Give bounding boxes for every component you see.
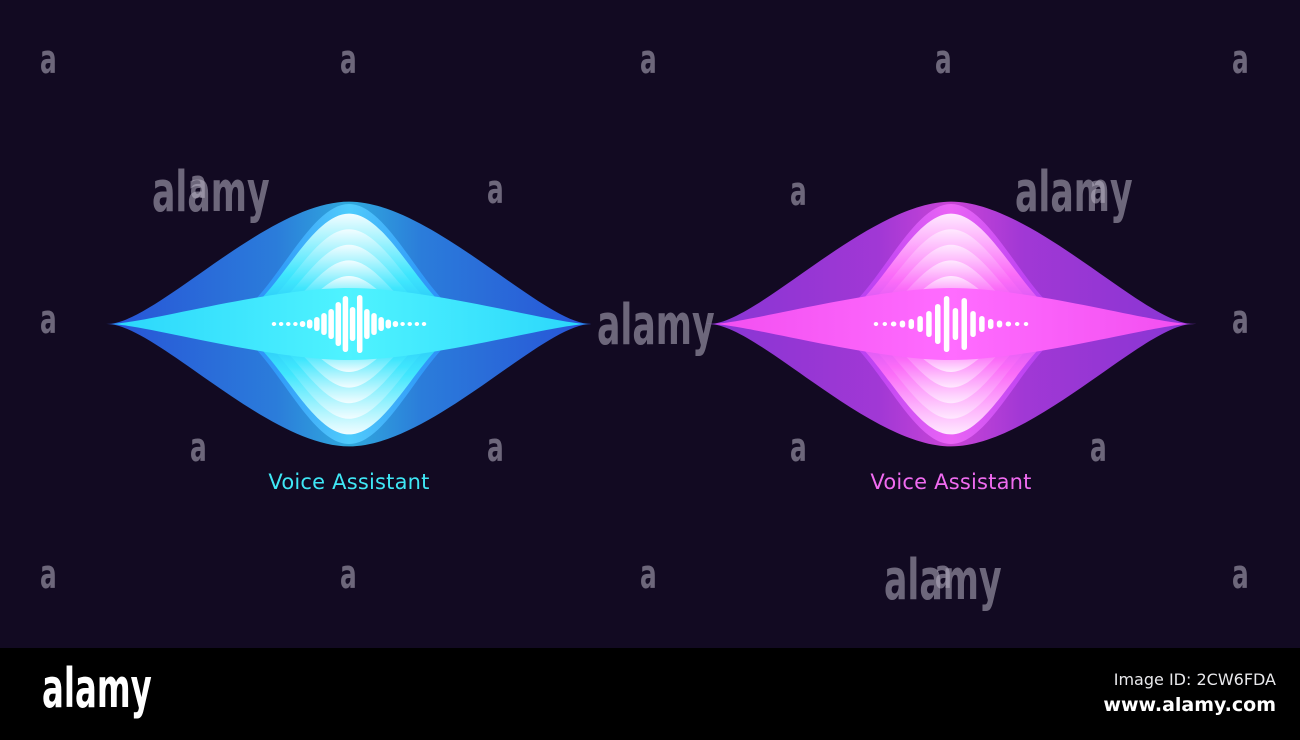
equalizer-bar (364, 309, 370, 339)
waveform-blue (102, 202, 596, 447)
equalizer-bar (378, 317, 384, 331)
website-label: www.alamy.com (1103, 694, 1276, 716)
equalizer-bar (343, 296, 349, 352)
equalizer-bar (874, 322, 879, 326)
equalizer-bar (883, 322, 888, 326)
equalizer-bar (350, 307, 356, 341)
illustration-canvas: aaaaaaaaaaaaaaaaaaaaalamyalamyalamyalamy… (0, 0, 1300, 648)
screenshot-root: aaaaaaaaaaaaaaaaaaaaalamyalamyalamyalamy… (0, 0, 1300, 740)
equalizer-bar (386, 320, 392, 329)
equalizer-bar (944, 296, 950, 352)
equalizer-bar (415, 322, 420, 326)
equalizer-bar (371, 313, 377, 335)
alamy-logo: alamy (42, 662, 152, 716)
equalizer-bar (300, 321, 306, 327)
equalizer-bar (336, 302, 342, 346)
waveform-artwork (0, 0, 1300, 648)
equalizer-bar (422, 322, 427, 326)
equalizer-bar (314, 317, 320, 331)
equalizer-bar (307, 320, 313, 329)
equalizer-bar (935, 304, 941, 344)
equalizer-bar (1015, 322, 1020, 326)
equalizer-bar (393, 321, 399, 327)
equalizer-bar (272, 322, 277, 326)
equalizer-bar (279, 322, 284, 326)
equalizer-bar (926, 311, 932, 337)
caption-voice-assistant-pink: Voice Assistant (870, 470, 1031, 494)
equalizer-bar (997, 321, 1003, 328)
equalizer-bar (988, 319, 994, 329)
waveform-pink (704, 202, 1198, 447)
equalizer-bar (891, 322, 897, 327)
equalizer-bar (400, 322, 405, 326)
image-id-label: Image ID: 2CW6FDA (1114, 670, 1276, 689)
equalizer-bar (328, 309, 334, 339)
equalizer-bar (1024, 322, 1029, 326)
equalizer-bar (286, 322, 291, 326)
equalizer-bar (953, 308, 959, 340)
equalizer-bar (909, 319, 915, 329)
equalizer-bar (970, 311, 976, 337)
equalizer-bar (407, 322, 412, 326)
equalizer-bar (961, 298, 967, 350)
equalizer-bar (321, 313, 327, 335)
caption-voice-assistant-blue: Voice Assistant (268, 470, 429, 494)
alamy-footer-bar: alamy Image ID: 2CW6FDA www.alamy.com (0, 648, 1300, 740)
equalizer-bar (979, 316, 985, 332)
equalizer-bar (917, 316, 923, 332)
equalizer-bar (900, 321, 906, 328)
equalizer-bar (357, 295, 363, 353)
equalizer-bar (293, 322, 298, 326)
equalizer-bar (1006, 322, 1012, 327)
